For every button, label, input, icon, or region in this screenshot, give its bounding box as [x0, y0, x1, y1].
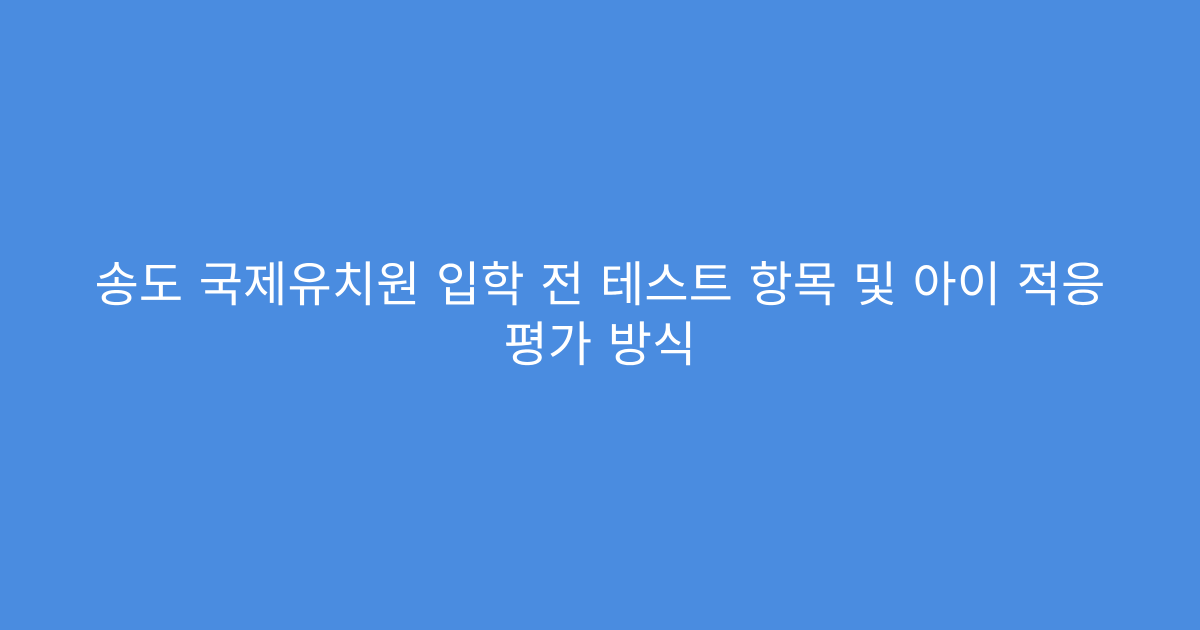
title-block: 송도 국제유치원 입학 전 테스트 항목 및 아이 적응 평가 방식	[45, 255, 1155, 375]
share-card: 송도 국제유치원 입학 전 테스트 항목 및 아이 적응 평가 방식	[0, 0, 1200, 630]
page-title: 송도 국제유치원 입학 전 테스트 항목 및 아이 적응 평가 방식	[55, 255, 1145, 375]
